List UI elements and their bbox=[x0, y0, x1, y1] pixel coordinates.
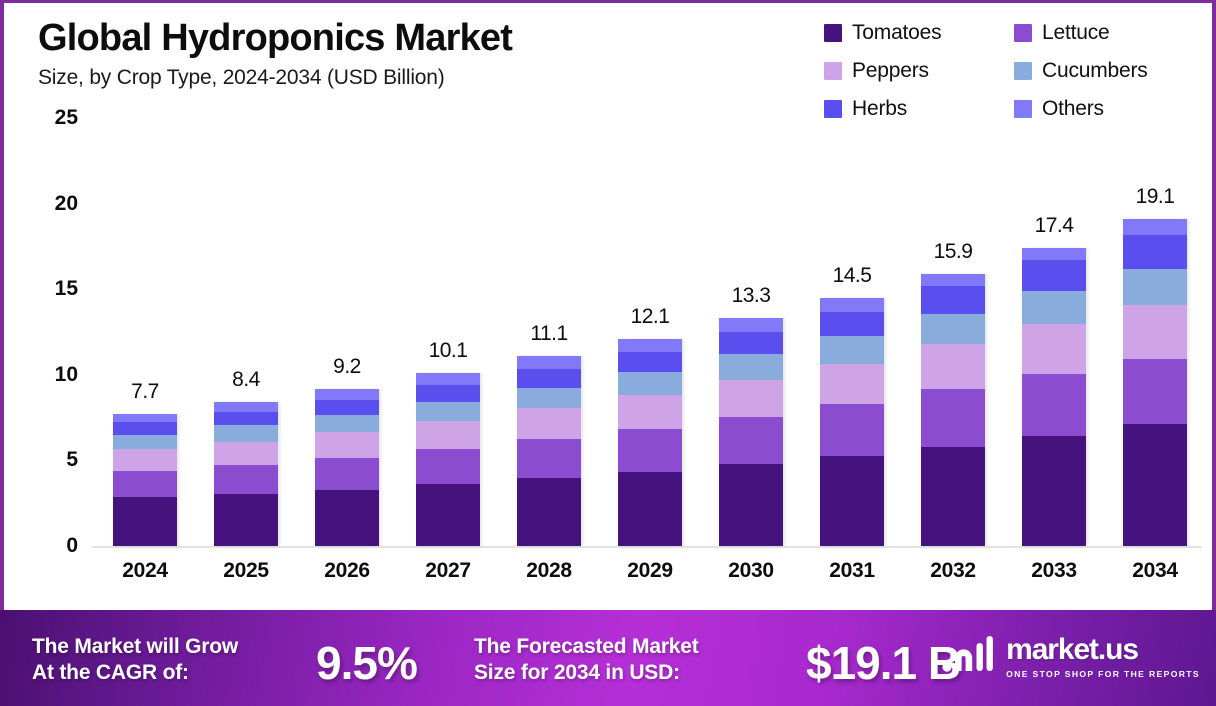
legend-item-label: Cucumbers bbox=[1042, 59, 1148, 83]
x-axis-tick: 2027 bbox=[399, 559, 497, 583]
bar-value-label: 14.5 bbox=[803, 264, 901, 288]
x-axis-tick: 2028 bbox=[500, 559, 598, 583]
bar-segment-herbs[interactable] bbox=[416, 385, 480, 402]
market-us-logo[interactable]: market.us ONE STOP SHOP FOR THE REPORTS bbox=[941, 634, 1200, 679]
x-axis-baseline bbox=[92, 546, 1202, 548]
legend-swatch-icon bbox=[1014, 24, 1032, 42]
bar-segment-tomatoes[interactable] bbox=[719, 464, 783, 546]
bar-segment-cucumbers[interactable] bbox=[214, 425, 278, 441]
bar-segment-cucumbers[interactable] bbox=[517, 388, 581, 409]
x-axis-labels: 2024202520262027202820292030203120322033… bbox=[96, 559, 1204, 583]
bar-value-label: 10.1 bbox=[399, 339, 497, 363]
bar-segment-tomatoes[interactable] bbox=[214, 494, 278, 546]
bar-segment-tomatoes[interactable] bbox=[315, 490, 379, 546]
bar-segment-others[interactable] bbox=[618, 339, 682, 352]
bar-segment-peppers[interactable] bbox=[214, 442, 278, 465]
plot-area: 0510152025 7.78.49.210.111.112.113.314.5… bbox=[4, 118, 1216, 558]
bar-segment-others[interactable] bbox=[719, 318, 783, 332]
bar-group[interactable]: 8.4 bbox=[197, 118, 295, 546]
logo-wordmark: market.us bbox=[1006, 635, 1200, 665]
bar-segment-herbs[interactable] bbox=[315, 400, 379, 415]
bar-group[interactable]: 17.4 bbox=[1005, 118, 1103, 546]
chart-legend: TomatoesLettucePeppersCucumbersHerbsOthe… bbox=[824, 21, 1198, 121]
bar-segment-peppers[interactable] bbox=[315, 432, 379, 458]
chart-subtitle: Size, by Crop Type, 2024-2034 (USD Billi… bbox=[38, 66, 512, 90]
bar-segment-cucumbers[interactable] bbox=[113, 435, 177, 450]
bar-segment-peppers[interactable] bbox=[820, 364, 884, 404]
bar-value-label: 13.3 bbox=[702, 284, 800, 308]
bar-series-container: 7.78.49.210.111.112.113.314.515.917.419.… bbox=[96, 118, 1204, 546]
bar-segment-cucumbers[interactable] bbox=[315, 415, 379, 432]
x-axis-tick: 2033 bbox=[1005, 559, 1103, 583]
bar-segment-peppers[interactable] bbox=[113, 449, 177, 470]
y-axis: 0510152025 bbox=[4, 118, 92, 558]
bar-value-label: 12.1 bbox=[601, 305, 699, 329]
bar-segment-cucumbers[interactable] bbox=[719, 354, 783, 380]
bar-segment-tomatoes[interactable] bbox=[1123, 424, 1187, 546]
bar-value-label: 9.2 bbox=[298, 355, 396, 379]
bar-segment-lettuce[interactable] bbox=[517, 439, 581, 478]
bar-group[interactable]: 13.3 bbox=[702, 118, 800, 546]
logo-text: market.us ONE STOP SHOP FOR THE REPORTS bbox=[1006, 635, 1200, 679]
stacked-bar[interactable] bbox=[820, 298, 884, 546]
legend-item-peppers[interactable]: Peppers bbox=[824, 59, 1008, 83]
bar-segment-herbs[interactable] bbox=[517, 369, 581, 388]
bar-segment-herbs[interactable] bbox=[719, 332, 783, 354]
bar-segment-others[interactable] bbox=[214, 402, 278, 411]
bar-segment-peppers[interactable] bbox=[618, 395, 682, 428]
bar-value-label: 17.4 bbox=[1005, 214, 1103, 238]
bar-segment-cucumbers[interactable] bbox=[820, 336, 884, 363]
bar-segment-lettuce[interactable] bbox=[618, 429, 682, 472]
bar-segment-cucumbers[interactable] bbox=[1123, 269, 1187, 305]
cagr-value: 9.5% bbox=[316, 636, 417, 690]
y-axis-tick: 20 bbox=[55, 192, 78, 216]
bar-group[interactable]: 10.1 bbox=[399, 118, 497, 546]
bar-segment-others[interactable] bbox=[416, 373, 480, 385]
bar-segment-tomatoes[interactable] bbox=[820, 456, 884, 546]
bar-group[interactable]: 11.1 bbox=[500, 118, 598, 546]
bar-segment-peppers[interactable] bbox=[416, 421, 480, 449]
bar-segment-others[interactable] bbox=[820, 298, 884, 312]
legend-item-label: Peppers bbox=[852, 59, 929, 83]
y-axis-tick: 25 bbox=[55, 106, 78, 130]
bar-segment-cucumbers[interactable] bbox=[416, 402, 480, 421]
stacked-bar[interactable] bbox=[1022, 248, 1086, 546]
logo-tagline: ONE STOP SHOP FOR THE REPORTS bbox=[1006, 669, 1200, 679]
legend-item-tomatoes[interactable]: Tomatoes bbox=[824, 21, 1008, 45]
summary-banner: The Market will Grow At the CAGR of: 9.5… bbox=[0, 610, 1216, 706]
bar-segment-tomatoes[interactable] bbox=[113, 497, 177, 546]
bar-segment-cucumbers[interactable] bbox=[1022, 291, 1086, 324]
x-axis-tick: 2026 bbox=[298, 559, 396, 583]
cagr-label-line2: At the CAGR of: bbox=[32, 660, 238, 686]
x-axis-tick: 2030 bbox=[702, 559, 800, 583]
legend-item-label: Lettuce bbox=[1042, 21, 1110, 45]
bar-chart-logo-icon bbox=[941, 634, 995, 679]
bar-segment-tomatoes[interactable] bbox=[618, 472, 682, 546]
cagr-label-line1: The Market will Grow bbox=[32, 634, 238, 660]
legend-swatch-icon bbox=[1014, 100, 1032, 118]
legend-item-label: Tomatoes bbox=[852, 21, 941, 45]
bar-segment-herbs[interactable] bbox=[1123, 235, 1187, 268]
bar-segment-herbs[interactable] bbox=[921, 286, 985, 314]
bar-value-label: 11.1 bbox=[500, 322, 598, 346]
x-axis-tick: 2034 bbox=[1106, 559, 1204, 583]
bar-group[interactable]: 19.1 bbox=[1106, 118, 1204, 546]
legend-item-cucumbers[interactable]: Cucumbers bbox=[1014, 59, 1198, 83]
forecast-size-label-line2: Size for 2034 in USD: bbox=[474, 660, 699, 686]
x-axis-tick: 2032 bbox=[904, 559, 1002, 583]
bar-segment-others[interactable] bbox=[921, 274, 985, 286]
x-axis-tick: 2025 bbox=[197, 559, 295, 583]
bar-group[interactable]: 15.9 bbox=[904, 118, 1002, 546]
bar-segment-tomatoes[interactable] bbox=[1022, 436, 1086, 546]
legend-swatch-icon bbox=[824, 24, 842, 42]
bar-segment-peppers[interactable] bbox=[1123, 305, 1187, 360]
page-title: Global Hydroponics Market bbox=[38, 17, 512, 60]
stacked-bar[interactable] bbox=[416, 373, 480, 546]
y-axis-tick: 10 bbox=[55, 363, 78, 387]
forecast-size-label: The Forecasted Market Size for 2034 in U… bbox=[474, 634, 699, 685]
x-axis-tick: 2031 bbox=[803, 559, 901, 583]
bar-value-label: 7.7 bbox=[96, 380, 194, 404]
bar-group[interactable]: 9.2 bbox=[298, 118, 396, 546]
bar-segment-others[interactable] bbox=[517, 356, 581, 369]
stacked-bar[interactable] bbox=[517, 356, 581, 546]
legend-swatch-icon bbox=[824, 100, 842, 118]
infographic-frame: Global Hydroponics Market Size, by Crop … bbox=[0, 0, 1216, 706]
bar-segment-peppers[interactable] bbox=[921, 344, 985, 389]
bar-segment-herbs[interactable] bbox=[820, 312, 884, 337]
bar-segment-tomatoes[interactable] bbox=[416, 484, 480, 546]
bar-segment-cucumbers[interactable] bbox=[618, 372, 682, 395]
bar-segment-others[interactable] bbox=[1022, 248, 1086, 260]
y-axis-tick: 15 bbox=[55, 277, 78, 301]
bar-segment-herbs[interactable] bbox=[113, 422, 177, 435]
bar-segment-lettuce[interactable] bbox=[1022, 374, 1086, 436]
bar-segment-herbs[interactable] bbox=[214, 412, 278, 426]
legend-swatch-icon bbox=[824, 62, 842, 80]
bar-segment-lettuce[interactable] bbox=[820, 404, 884, 456]
stacked-bar[interactable] bbox=[719, 318, 783, 546]
bar-group[interactable]: 14.5 bbox=[803, 118, 901, 546]
bar-segment-tomatoes[interactable] bbox=[517, 478, 581, 546]
forecast-size-label-line1: The Forecasted Market bbox=[474, 634, 699, 660]
stacked-bar[interactable] bbox=[113, 414, 177, 546]
bar-segment-lettuce[interactable] bbox=[113, 471, 177, 498]
bar-segment-lettuce[interactable] bbox=[1123, 359, 1187, 424]
bar-segment-others[interactable] bbox=[113, 414, 177, 422]
bar-segment-tomatoes[interactable] bbox=[921, 447, 985, 546]
stacked-bar[interactable] bbox=[618, 339, 682, 546]
legend-swatch-icon bbox=[1014, 62, 1032, 80]
forecast-size-value: $19.1 B bbox=[806, 636, 960, 690]
x-axis-tick: 2029 bbox=[601, 559, 699, 583]
bar-segment-lettuce[interactable] bbox=[719, 417, 783, 464]
bar-segment-peppers[interactable] bbox=[517, 408, 581, 439]
bar-segment-lettuce[interactable] bbox=[214, 465, 278, 494]
bar-segment-herbs[interactable] bbox=[618, 352, 682, 373]
chart-header: Global Hydroponics Market Size, by Crop … bbox=[38, 17, 512, 90]
bar-segment-herbs[interactable] bbox=[1022, 260, 1086, 291]
legend-item-lettuce[interactable]: Lettuce bbox=[1014, 21, 1198, 45]
bar-segment-peppers[interactable] bbox=[1022, 324, 1086, 374]
bar-segment-lettuce[interactable] bbox=[315, 458, 379, 490]
bar-group[interactable]: 12.1 bbox=[601, 118, 699, 546]
x-axis-tick: 2024 bbox=[96, 559, 194, 583]
stacked-bar[interactable] bbox=[1123, 219, 1187, 546]
bar-segment-cucumbers[interactable] bbox=[921, 314, 985, 344]
bar-value-label: 19.1 bbox=[1106, 185, 1204, 209]
y-axis-tick: 5 bbox=[66, 448, 78, 472]
bar-segment-peppers[interactable] bbox=[719, 380, 783, 417]
stacked-bar[interactable] bbox=[921, 274, 985, 546]
bar-segment-lettuce[interactable] bbox=[921, 389, 985, 447]
bar-segment-others[interactable] bbox=[1123, 219, 1187, 235]
bar-group[interactable]: 7.7 bbox=[96, 118, 194, 546]
bar-value-label: 8.4 bbox=[197, 368, 295, 392]
bar-value-label: 15.9 bbox=[904, 240, 1002, 264]
y-axis-tick: 0 bbox=[66, 534, 78, 558]
cagr-label: The Market will Grow At the CAGR of: bbox=[32, 634, 238, 685]
bar-segment-others[interactable] bbox=[315, 389, 379, 400]
bar-segment-lettuce[interactable] bbox=[416, 449, 480, 484]
stacked-bar[interactable] bbox=[315, 389, 379, 547]
stacked-bar[interactable] bbox=[214, 402, 278, 546]
